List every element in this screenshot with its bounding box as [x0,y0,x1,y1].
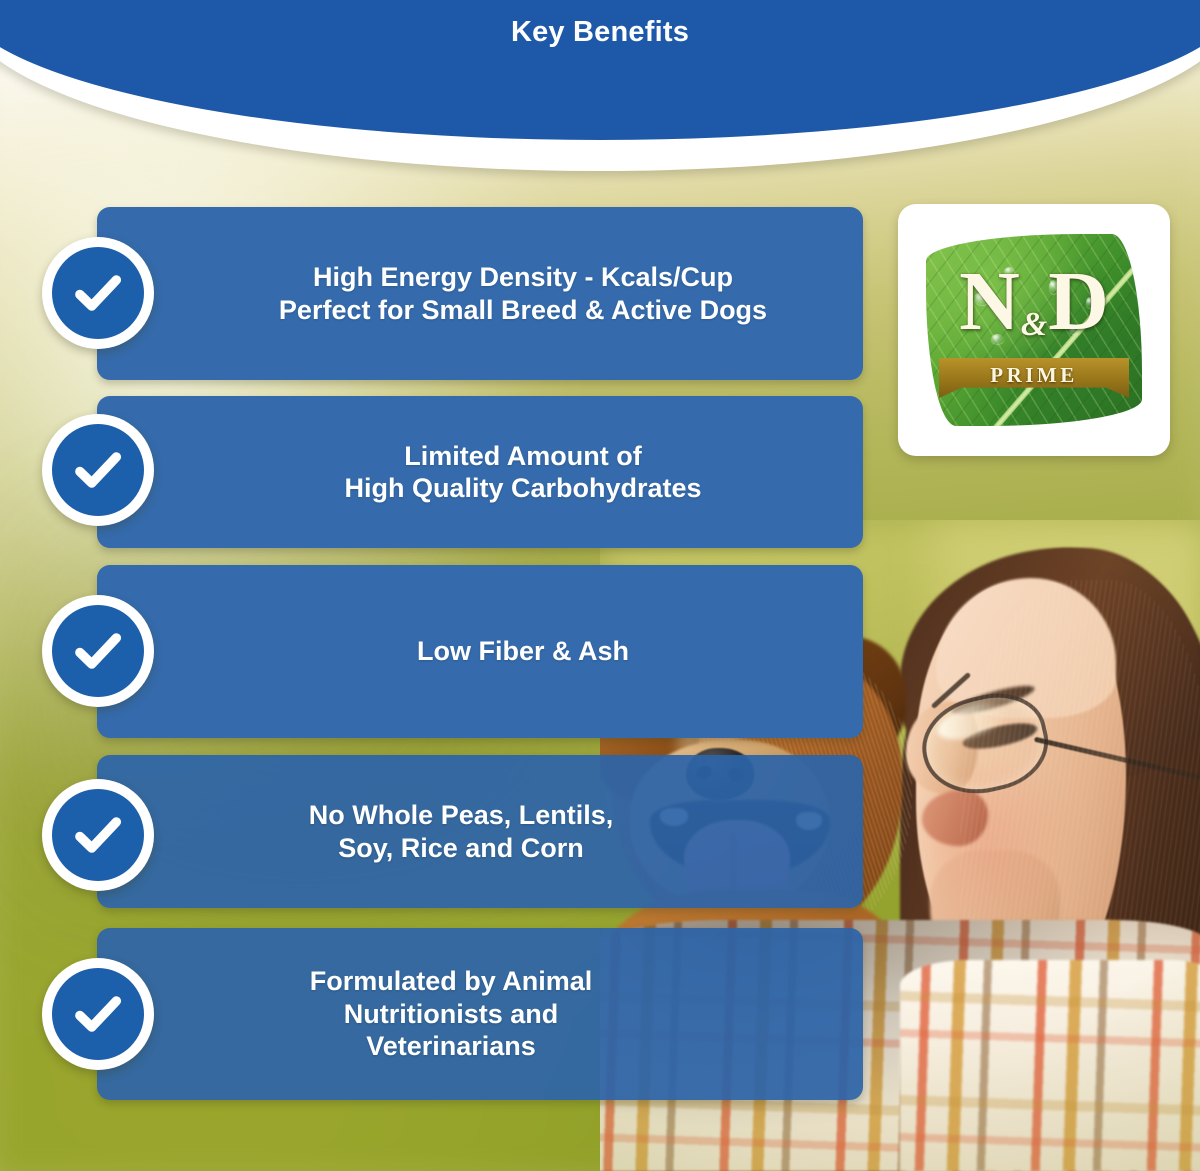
logo-ampersand: & [1020,306,1048,343]
check-glyph [69,985,127,1043]
benefit-text: Limited Amount of High Quality Carbohydr… [232,440,727,505]
prime-label: PRIME [939,363,1129,388]
logo-letter-d: D [1048,255,1109,348]
benefit-line: Limited Amount of [344,440,701,472]
checkmark-circle [52,424,144,516]
nd-monogram: N&D [926,260,1142,344]
benefit-line: Nutritionists and [310,998,593,1030]
checkmark-icon [42,958,154,1070]
benefit-line: High Quality Carbohydrates [344,472,701,504]
checkmark-icon [42,595,154,707]
benefit-emphasis: Limited Amount [404,441,608,471]
check-glyph [69,264,127,322]
benefit-text: Formulated by Animal Nutritionists and V… [198,965,763,1062]
check-glyph [69,622,127,680]
benefit-text: No Whole Peas, Lentils, Soy, Rice and Co… [197,799,764,864]
benefit-card[interactable]: Formulated by Animal Nutritionists and V… [97,928,863,1100]
benefit-text: Low Fiber & Ash [305,635,655,667]
benefit-line: Perfect for Small Breed & Active Dogs [279,294,767,326]
page-title: Key Benefits [0,16,1200,49]
benefit-line: Veterinarians [310,1030,593,1062]
benefit-line-suffix: of [609,441,642,471]
checkmark-circle [52,789,144,881]
benefit-card[interactable]: Low Fiber & Ash [97,565,863,738]
plaid-blanket-right [900,960,1200,1171]
checkmark-icon [42,779,154,891]
checkmark-circle [52,968,144,1060]
benefit-line: Soy, Rice and Corn [309,832,614,864]
logo-letter-n: N [959,255,1020,348]
nd-prime-logo-tile[interactable]: N&D PRIME [898,204,1170,456]
benefit-card[interactable]: High Energy Density - Kcals/Cup Perfect … [97,207,863,380]
benefit-line: High Energy Density - Kcals/Cup [279,261,767,293]
check-glyph [69,806,127,864]
nd-prime-leaf-logo: N&D PRIME [926,234,1142,426]
benefit-text: High Energy Density - Kcals/Cup Perfect … [167,261,793,326]
checkmark-icon [42,414,154,526]
benefit-line: Formulated by Animal [310,965,593,997]
checkmark-circle [52,247,144,339]
benefit-card[interactable]: Limited Amount of High Quality Carbohydr… [97,396,863,548]
benefit-line: Low Fiber & Ash [417,635,629,667]
benefit-line: No Whole Peas, Lentils, [309,799,614,831]
checkmark-circle [52,605,144,697]
blanket-horizontal-stripes-right [900,960,1200,1171]
check-glyph [69,441,127,499]
checkmark-icon [42,237,154,349]
benefit-card[interactable]: No Whole Peas, Lentils, Soy, Rice and Co… [97,755,863,908]
